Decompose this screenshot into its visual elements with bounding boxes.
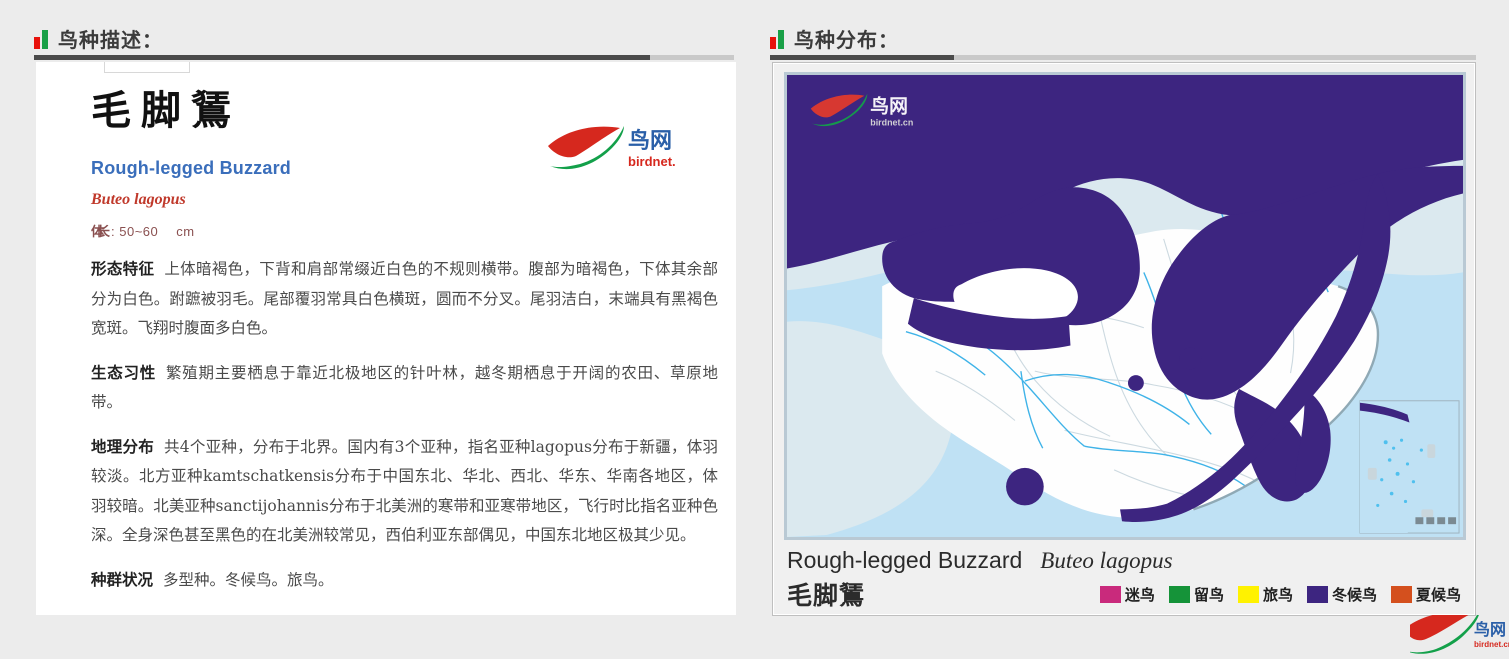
- paragraph-text: 上体暗褐色，下背和肩部常缀近白色的不规则横带。腹部为暗褐色，下体其余部分为白色。…: [91, 260, 718, 337]
- legend-label: 留鸟: [1194, 584, 1224, 605]
- description-header-label: 鸟种描述：: [58, 24, 163, 53]
- distribution-header-rule: [770, 55, 1476, 60]
- distribution-map[interactable]: 鸟网 birdnet.cn: [784, 72, 1466, 540]
- map-caption-scientific: Buteo lagopus: [1040, 548, 1172, 574]
- distribution-map-svg: 鸟网 birdnet.cn: [787, 75, 1463, 537]
- birdnet-logo-domain: birdnet.cn: [628, 154, 676, 169]
- bar-chart-icon: [770, 29, 784, 49]
- page-root: 鸟种描述： 毛脚鵟 Rough-legged Buzzard Buteo lag…: [0, 0, 1509, 659]
- paragraph-text: 多型种。冬候鸟。旅鸟。: [163, 571, 334, 589]
- species-size-line: 体长: 50~60cm: [91, 221, 718, 240]
- legend-label: 夏候鸟: [1416, 584, 1461, 605]
- description-section-header: 鸟种描述：: [34, 24, 163, 53]
- corner-logo-icon: 鸟网 birdnet.cn: [1410, 615, 1509, 659]
- birdnet-logo-swoosh-icon: 鸟网 birdnet.cn: [546, 122, 676, 180]
- svg-text:鸟网: 鸟网: [1474, 620, 1506, 639]
- legend-swatch: [1391, 586, 1412, 603]
- svg-text:birdnet.cn: birdnet.cn: [870, 117, 913, 127]
- map-caption-en: Rough-legged Buzzard: [787, 547, 1022, 574]
- size-unit: cm: [176, 224, 194, 239]
- distribution-section-header: 鸟种分布：: [770, 24, 899, 53]
- distribution-map-panel: 鸟网 birdnet.cn: [772, 62, 1476, 616]
- legend-label: 迷鸟: [1125, 584, 1155, 605]
- birdnet-logo-cn: 鸟网: [628, 128, 672, 154]
- legend-swatch: [1100, 586, 1121, 603]
- distribution-rule-fill: [770, 55, 954, 60]
- distribution-header-label: 鸟种分布：: [794, 24, 899, 53]
- legend-item-vagrant: 迷鸟: [1100, 584, 1155, 605]
- bar-chart-icon: [34, 29, 48, 49]
- species-description-document: 毛脚鵟 Rough-legged Buzzard Buteo lagopus 体…: [36, 62, 736, 615]
- map-legend: 迷鸟 留鸟 旅鸟 冬候鸟 夏候鸟: [1100, 584, 1461, 605]
- birdnet-logo: 鸟网 birdnet.cn: [546, 122, 676, 180]
- paragraph-morphology: 形态特征上体暗褐色，下背和肩部常缀近白色的不规则横带。腹部为暗褐色，下体其余部分…: [91, 254, 718, 344]
- map-caption: Rough-legged Buzzard Buteo lagopus 毛脚鵟 迷…: [787, 547, 1463, 607]
- legend-item-resident: 留鸟: [1169, 584, 1224, 605]
- legend-item-passage: 旅鸟: [1238, 584, 1293, 605]
- size-value: : 50~60: [111, 224, 158, 239]
- svg-text:birdnet.cn: birdnet.cn: [1474, 640, 1509, 649]
- paragraph-heading: 形态特征: [91, 259, 154, 278]
- paragraph-heading: 种群状况: [91, 570, 153, 589]
- size-label: 体长: [91, 224, 103, 239]
- paragraph-text: 共4个亚种，分布于北界。国内有3个亚种，指名亚种lagopus分布于新疆，体羽较…: [91, 438, 718, 545]
- legend-item-summer-visitor: 夏候鸟: [1391, 584, 1461, 605]
- legend-item-winter-visitor: 冬候鸟: [1307, 584, 1377, 605]
- legend-swatch: [1238, 586, 1259, 603]
- map-caption-names: Rough-legged Buzzard Buteo lagopus: [787, 547, 1463, 574]
- species-name-scientific: Buteo lagopus: [91, 191, 718, 209]
- paragraph-heading: 地理分布: [91, 437, 154, 456]
- legend-label: 冬候鸟: [1332, 584, 1377, 605]
- corner-birdnet-watermark: 鸟网 birdnet.cn: [1410, 615, 1509, 659]
- legend-swatch: [1169, 586, 1190, 603]
- paragraph-population: 种群状况多型种。冬候鸟。旅鸟。: [91, 565, 718, 596]
- document-tab-marker: [104, 62, 190, 73]
- paragraph-distribution: 地理分布共4个亚种，分布于北界。国内有3个亚种，指名亚种lagopus分布于新疆…: [91, 432, 718, 551]
- svg-text:鸟网: 鸟网: [870, 95, 908, 118]
- description-header-rule: [34, 55, 734, 60]
- paragraph-heading: 生态习性: [91, 363, 156, 382]
- map-south-china-sea-inset: [1360, 401, 1459, 533]
- legend-swatch: [1307, 586, 1328, 603]
- paragraph-text: 繁殖期主要栖息于靠近北极地区的针叶林，越冬期栖息于开阔的农田、草原地带。: [91, 364, 718, 412]
- description-rule-fill: [34, 55, 650, 60]
- paragraph-habits: 生态习性繁殖期主要栖息于靠近北极地区的针叶林，越冬期栖息于开阔的农田、草原地带。: [91, 358, 718, 418]
- legend-label: 旅鸟: [1263, 584, 1293, 605]
